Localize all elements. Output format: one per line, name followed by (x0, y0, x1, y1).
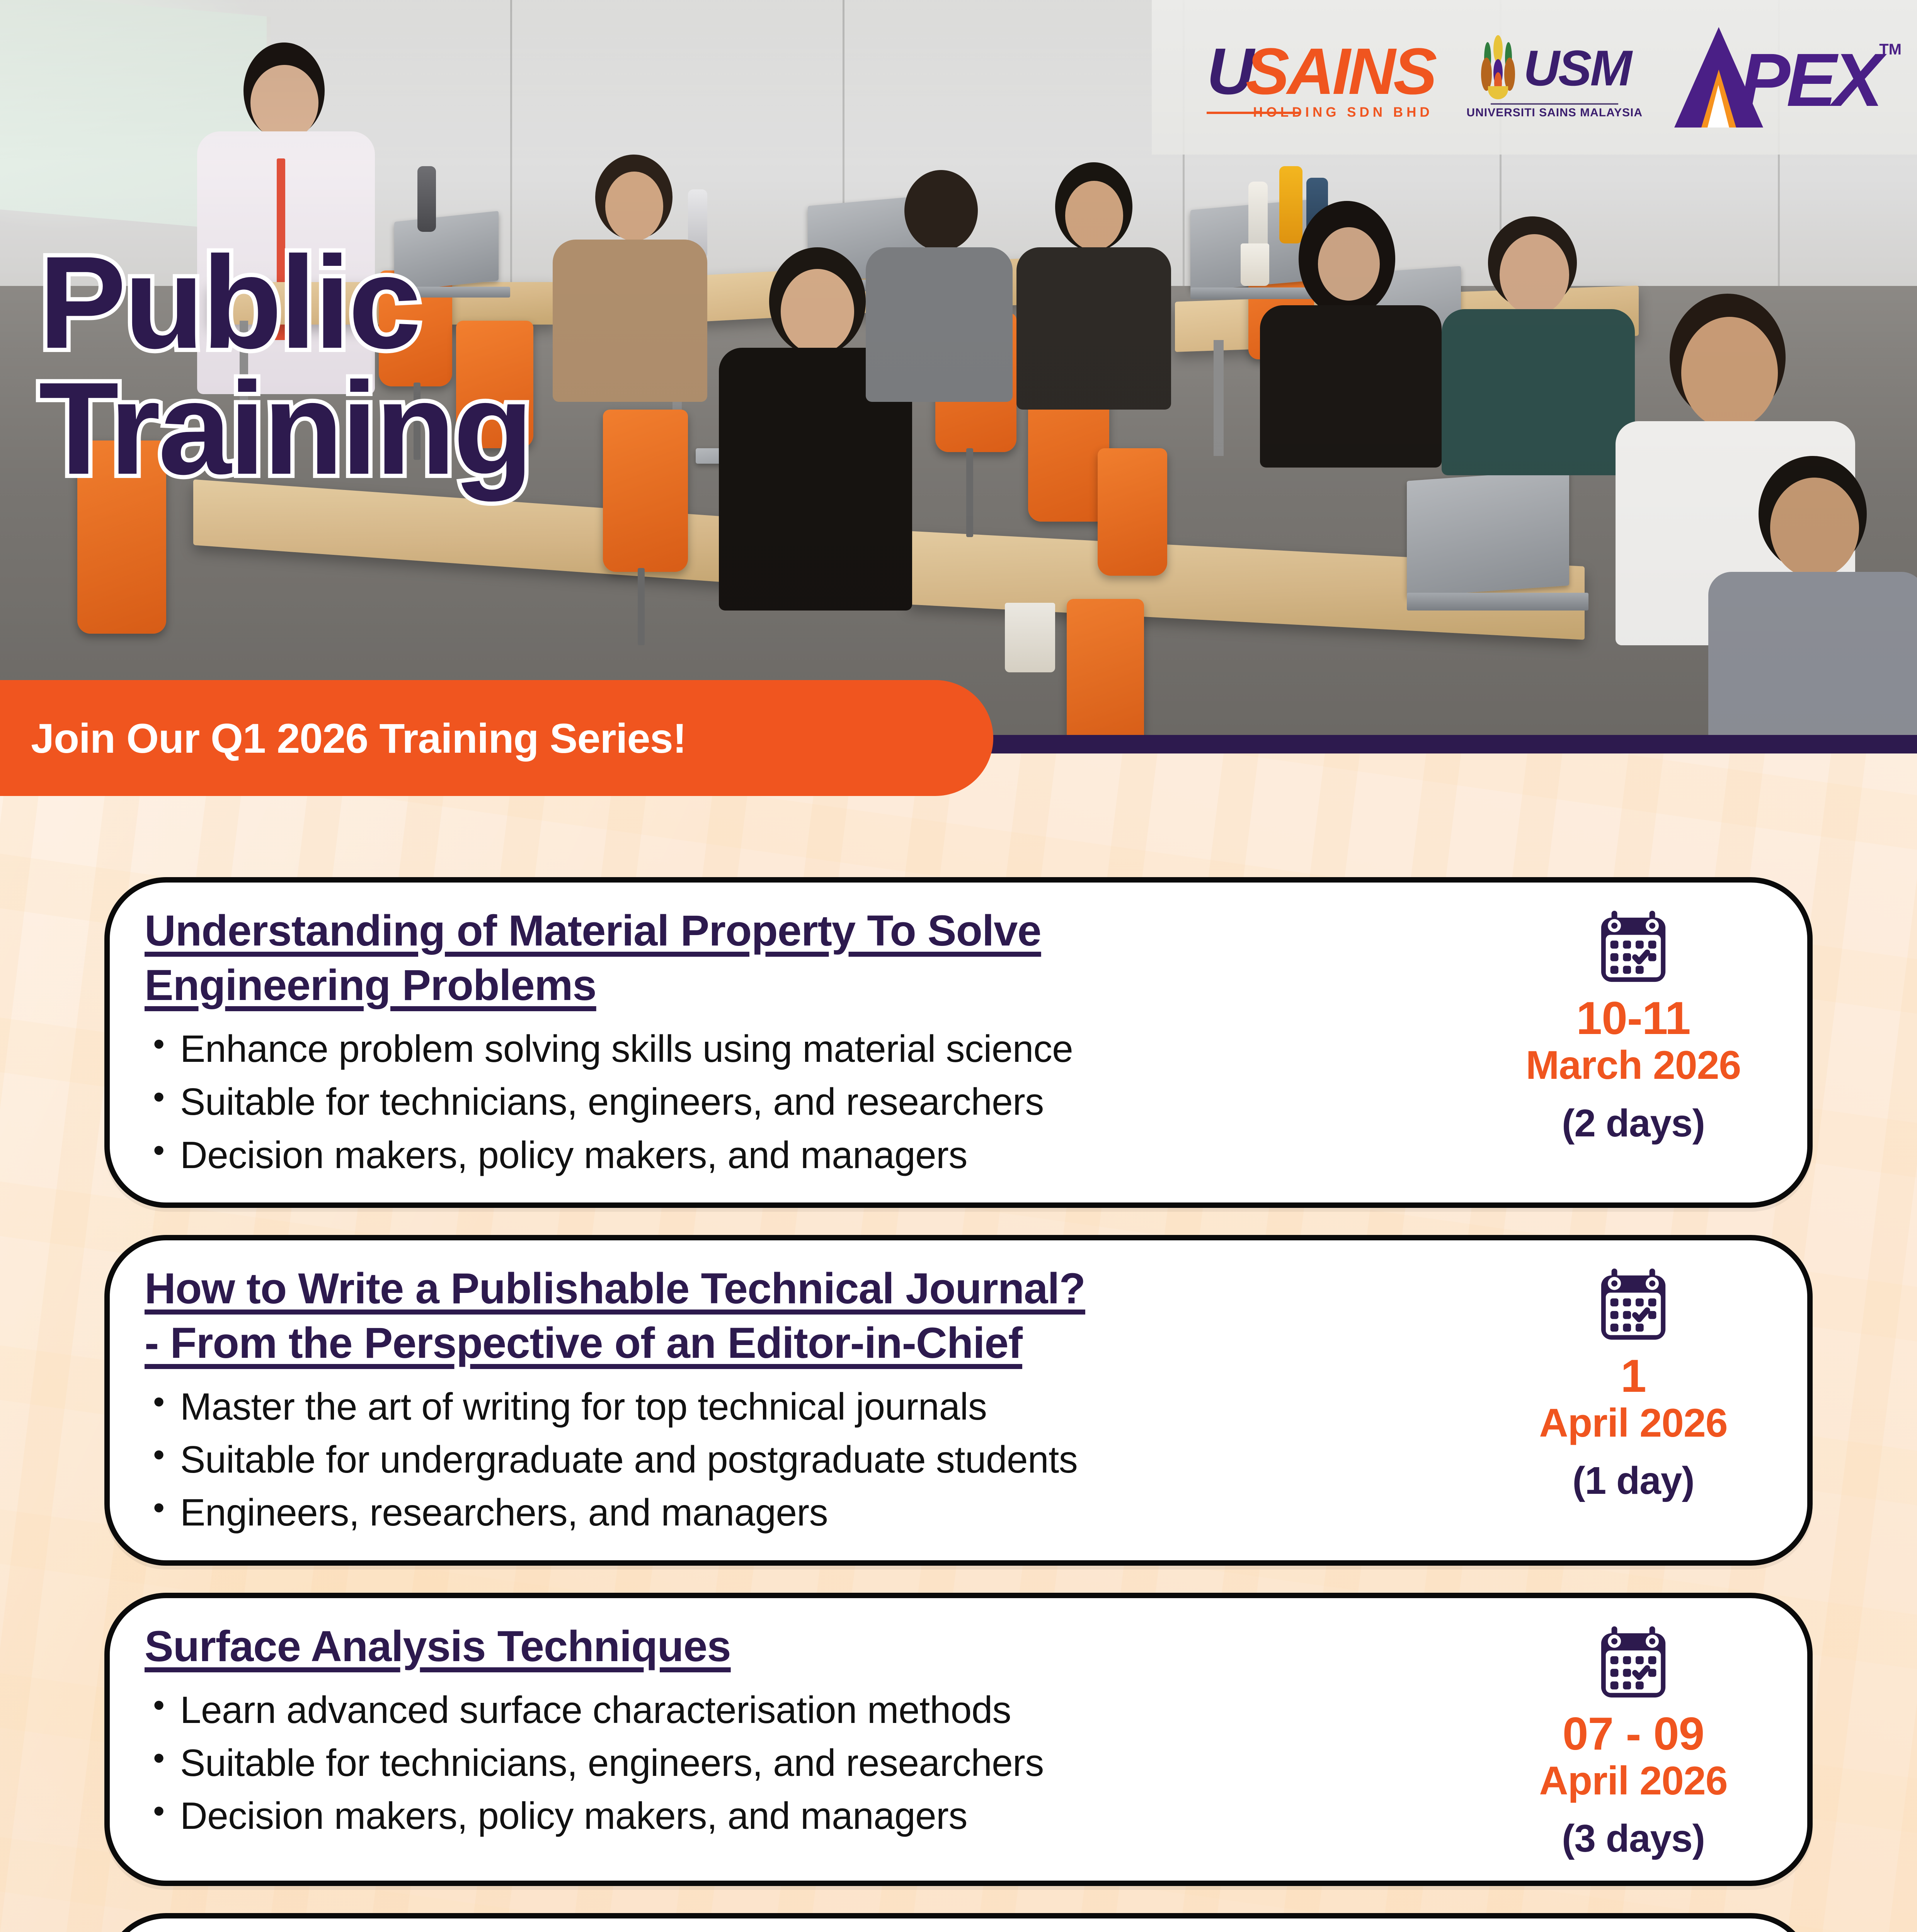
course-date-block: 1April 2026(1 day) (1486, 1261, 1780, 1539)
calendar-check-icon (1597, 1267, 1670, 1343)
course-date-month: March 2026 (1526, 1043, 1741, 1088)
course-card: Surface Analysis TechniquesLearn advance… (104, 1593, 1813, 1886)
course-bullet-item: Suitable for undergraduate and postgradu… (145, 1433, 1471, 1486)
course-bullet-item: Learn advanced surface characterisation … (145, 1684, 1471, 1736)
course-title-line: How to Write a Publishable Technical Jou… (145, 1261, 1471, 1316)
subtitle-banner-text: Join Our Q1 2026 Training Series! (0, 714, 686, 762)
course-bullet-item: Enhance problem solving skills using mat… (145, 1022, 1471, 1075)
usm-logo: USM UNIVERSITI SAINS MALAYSIA (1466, 35, 1643, 119)
course-title-line: - From the Perspective of an Editor-in-C… (145, 1316, 1471, 1370)
page-title: Public Training (39, 240, 531, 492)
usains-logo-u: U (1207, 41, 1251, 103)
logo-strip: U SAINS HOLDING SDN BHD USM (1152, 0, 1917, 155)
course-title: Understanding of Material Property To So… (145, 903, 1471, 1012)
usains-logo: U SAINS HOLDING SDN BHD (1207, 41, 1435, 114)
course-card: Understanding of Material Property To So… (104, 877, 1813, 1208)
course-date-month: April 2026 (1539, 1759, 1727, 1803)
course-card-main: Surface Analysis TechniquesLearn advance… (145, 1619, 1486, 1860)
usm-logo-letters: USM (1524, 46, 1631, 91)
course-bullets: Master the art of writing for top techni… (145, 1380, 1471, 1539)
usains-logo-rule (1207, 112, 1299, 114)
purple-accent-bar (987, 735, 1917, 753)
course-card: Failure Mechanisms and Failure Analysis … (104, 1913, 1813, 1932)
course-bullets: Learn advanced surface characterisation … (145, 1684, 1471, 1843)
usm-crest-icon (1479, 35, 1517, 101)
course-list: Understanding of Material Property To So… (0, 877, 1917, 1932)
subtitle-banner: Join Our Q1 2026 Training Series! (0, 680, 993, 796)
usains-logo-word: SAINS (1246, 41, 1435, 103)
page-title-line1: Public (39, 240, 531, 366)
course-bullet-item: Master the art of writing for top techni… (145, 1380, 1471, 1433)
course-bullet-item: Suitable for technicians, engineers, and… (145, 1736, 1471, 1789)
course-date-days: 1 (1621, 1352, 1646, 1401)
course-date-block: 10-11March 2026(2 days) (1486, 903, 1780, 1182)
apex-triangle-icon (1674, 27, 1763, 128)
page-title-line2: Training (39, 366, 531, 492)
course-duration: (3 days) (1562, 1817, 1705, 1860)
course-bullet-item: Engineers, researchers, and managers (145, 1486, 1471, 1539)
course-bullet-item: Suitable for technicians, engineers, and… (145, 1075, 1471, 1128)
course-title-line: Surface Analysis Techniques (145, 1619, 1471, 1673)
usm-logo-subtitle: UNIVERSITI SAINS MALAYSIA (1466, 106, 1643, 119)
course-title: How to Write a Publishable Technical Jou… (145, 1261, 1471, 1370)
course-title-line: Engineering Problems (145, 958, 1471, 1012)
course-date-block: 07 - 09April 2026(3 days) (1486, 1619, 1780, 1860)
apex-logo-tm: TM (1879, 41, 1902, 58)
course-date-days: 07 - 09 (1563, 1709, 1704, 1759)
course-card-main: Understanding of Material Property To So… (145, 903, 1486, 1182)
calendar-check-icon (1597, 1625, 1670, 1701)
course-bullet-item: Decision makers, policy makers, and mana… (145, 1129, 1471, 1182)
apex-logo: PEX TM (1674, 27, 1902, 128)
course-card: How to Write a Publishable Technical Jou… (104, 1235, 1813, 1566)
course-date-days: 10-11 (1576, 994, 1690, 1043)
course-title: Surface Analysis Techniques (145, 1619, 1471, 1673)
course-duration: (2 days) (1562, 1102, 1705, 1145)
course-bullets: Enhance problem solving skills using mat… (145, 1022, 1471, 1182)
calendar-check-icon (1597, 910, 1670, 985)
course-title-line: Understanding of Material Property To So… (145, 903, 1471, 958)
course-card-main: How to Write a Publishable Technical Jou… (145, 1261, 1486, 1539)
course-duration: (1 day) (1572, 1459, 1694, 1502)
course-date-month: April 2026 (1539, 1401, 1727, 1446)
course-bullet-item: Decision makers, policy makers, and mana… (145, 1789, 1471, 1842)
